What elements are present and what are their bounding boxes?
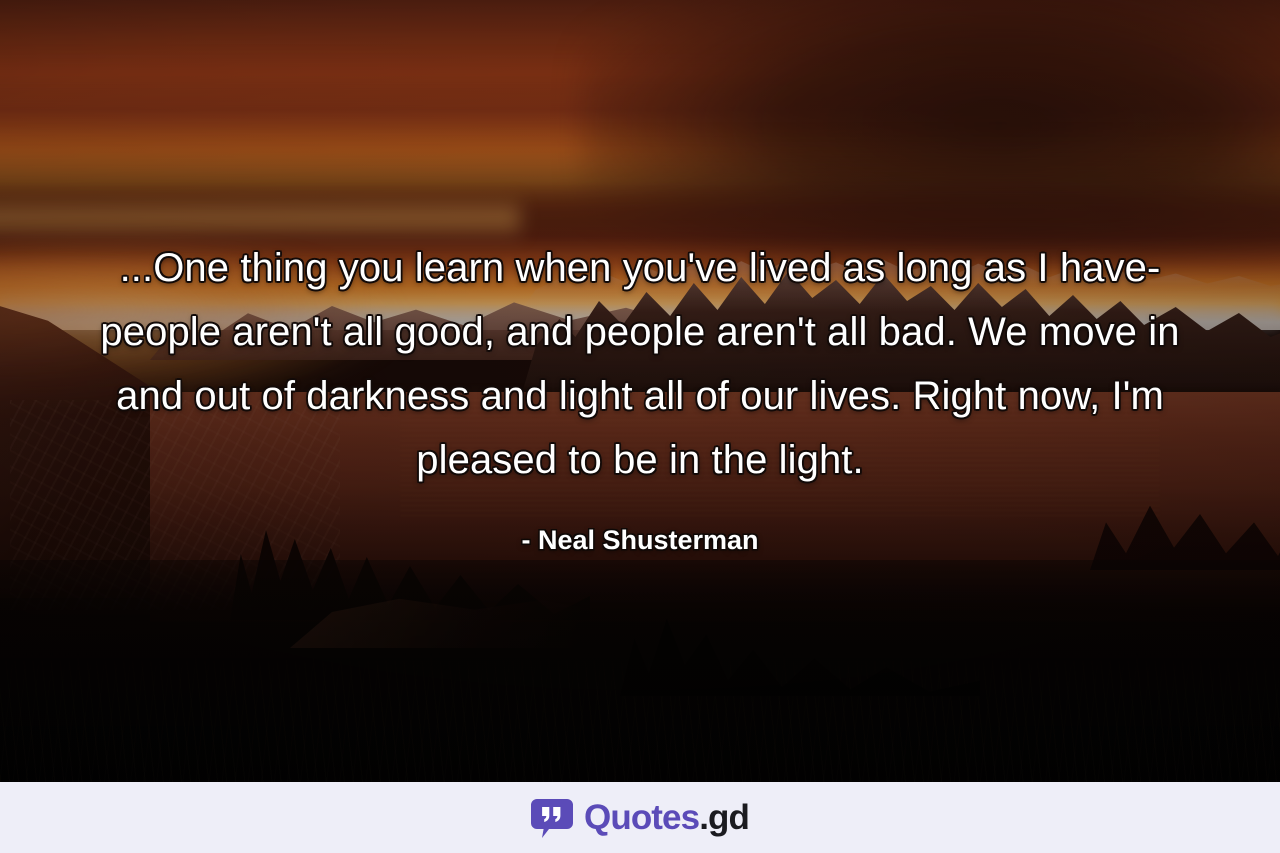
brand-link[interactable]: Quotes.gd	[531, 797, 749, 839]
quote-block: ...One thing you learn when you've lived…	[0, 236, 1280, 560]
quote-bubble-icon	[531, 797, 573, 839]
background-photo: ...One thing you learn when you've lived…	[0, 0, 1280, 782]
site-footer: Quotes.gd	[0, 782, 1280, 853]
cloud-streak	[0, 196, 520, 240]
quote-text: ...One thing you learn when you've lived…	[64, 236, 1216, 492]
quote-card-page: ...One thing you learn when you've lived…	[0, 0, 1280, 853]
brand-tld: .gd	[699, 798, 749, 837]
brand-name: Quotes	[584, 798, 699, 837]
brand-wordmark: Quotes.gd	[584, 800, 749, 835]
quote-author: - Neal Shusterman	[64, 520, 1216, 560]
